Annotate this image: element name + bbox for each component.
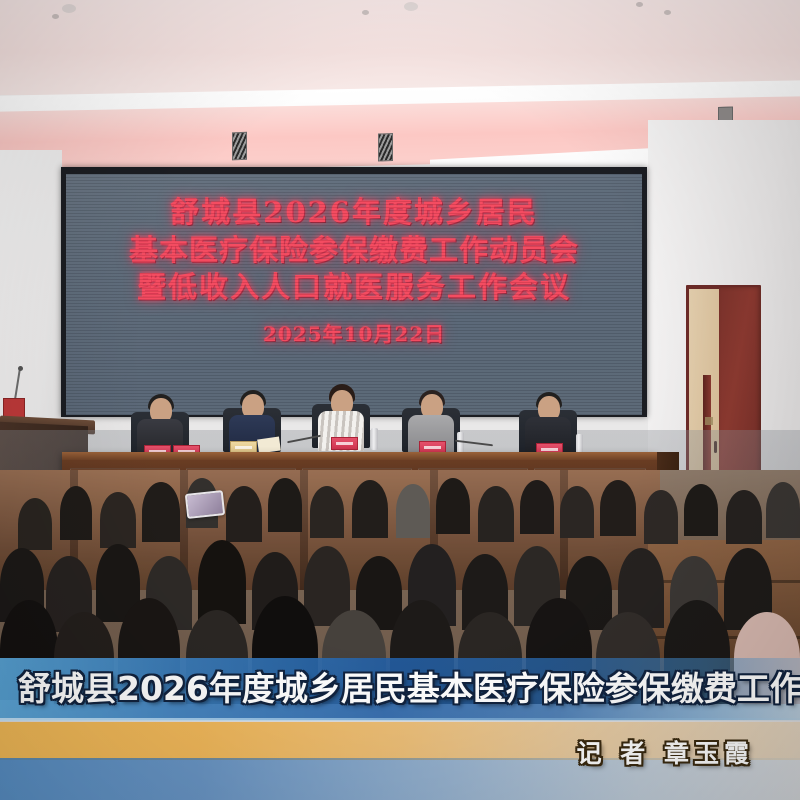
ceiling-light-icon bbox=[404, 2, 418, 11]
lower-third-divider bbox=[0, 718, 800, 721]
audience-member bbox=[644, 490, 678, 544]
led-line-1: 舒城县2026年度城乡居民 bbox=[66, 194, 642, 232]
door-plate-icon bbox=[705, 417, 713, 425]
lower-third-headline: 舒城县2026年度城乡居民基本医疗保险参保缴费工作动员会召开 bbox=[18, 663, 798, 715]
audience-member bbox=[396, 484, 430, 538]
audience-member bbox=[268, 478, 302, 532]
audience-member bbox=[100, 492, 136, 548]
ceiling-vent-icon bbox=[232, 132, 247, 161]
audience-member bbox=[600, 480, 636, 536]
audience-member bbox=[142, 482, 180, 542]
audience-member bbox=[226, 486, 262, 542]
audience-member bbox=[684, 484, 718, 536]
audience-member bbox=[18, 498, 52, 550]
audience-member bbox=[726, 490, 762, 544]
audience-member bbox=[352, 480, 388, 538]
ceiling-vent-icon bbox=[378, 133, 393, 162]
head-table-edge bbox=[62, 452, 657, 460]
lower-third-banner: 舒城县2026年度城乡居民基本医疗保险参保缴费工作动员会召开 记 者 章玉霞 bbox=[0, 658, 800, 800]
led-screen-surface: 舒城县2026年度城乡居民 基本医疗保险参保缴费工作动员会 暨低收入人口就医服务… bbox=[66, 174, 642, 415]
broadcast-screenshot: 舒城县2026年度城乡居民 基本医疗保险参保缴费工作动员会 暨低收入人口就医服务… bbox=[0, 0, 800, 800]
ceiling-light-icon bbox=[636, 2, 643, 7]
audience-member bbox=[520, 480, 554, 534]
ceiling-light-icon bbox=[362, 10, 369, 15]
led-line-3: 暨低收入人口就医服务工作会议 bbox=[66, 269, 642, 307]
ceiling-light-icon bbox=[52, 14, 59, 19]
audience-member bbox=[560, 486, 594, 538]
led-backdrop-screen: 舒城县2026年度城乡居民 基本医疗保险参保缴费工作动员会 暨低收入人口就医服务… bbox=[61, 167, 647, 417]
podium-microphone-head-icon bbox=[18, 366, 23, 371]
reporter-credit: 记 者 章玉霞 bbox=[577, 734, 754, 770]
left-wall bbox=[0, 150, 62, 440]
audience-member bbox=[60, 486, 92, 540]
ceiling-light-icon bbox=[664, 10, 671, 15]
audience-member bbox=[436, 478, 470, 534]
led-date: 2025年10月22日 bbox=[66, 321, 642, 347]
ceiling-light-icon bbox=[62, 4, 76, 13]
led-screen-text: 舒城县2026年度城乡居民 基本医疗保险参保缴费工作动员会 暨低收入人口就医服务… bbox=[66, 194, 642, 347]
audience-member bbox=[310, 486, 344, 538]
ceiling-upper-slab bbox=[0, 0, 800, 95]
water-bottle bbox=[371, 428, 378, 450]
audience-member bbox=[478, 486, 514, 542]
smartphone-camera[interactable] bbox=[185, 490, 225, 519]
nameplate bbox=[331, 437, 358, 450]
audience-member bbox=[766, 482, 800, 538]
water-bottle bbox=[457, 432, 464, 454]
led-line-2: 基本医疗保险参保缴费工作动员会 bbox=[66, 232, 642, 270]
